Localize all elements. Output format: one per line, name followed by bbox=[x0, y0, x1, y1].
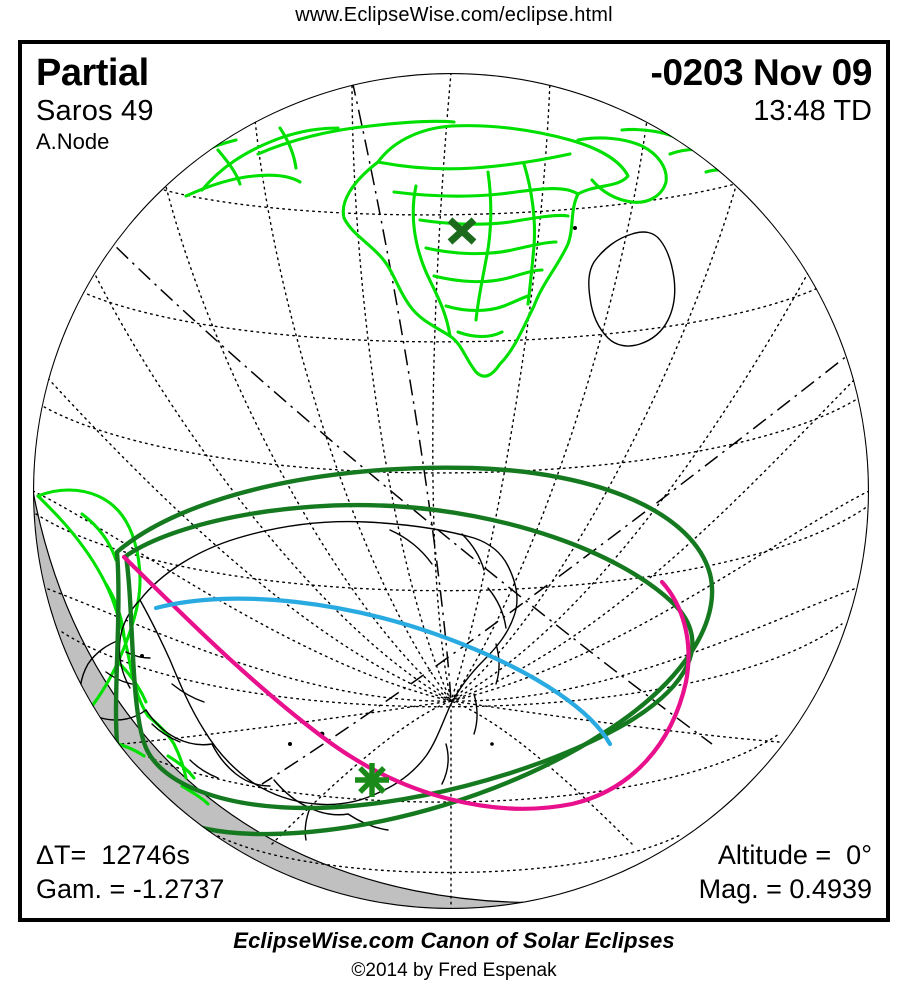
globe-diagram bbox=[22, 44, 886, 918]
saros-label: Saros 49 bbox=[36, 94, 154, 128]
footer-credit: ©2014 by Fred Espenak bbox=[0, 960, 908, 982]
page-footer: EclipseWise.com Canon of Solar Eclipses … bbox=[0, 928, 908, 982]
source-url: www.EclipseWise.com/eclipse.html bbox=[0, 4, 908, 27]
gamma-value: Gam. = -1.2737 bbox=[36, 872, 224, 906]
eclipse-time-label: 13:48 TD bbox=[651, 94, 872, 128]
delta-t-value: ΔT= 12746s bbox=[36, 838, 224, 872]
eclipse-date-label: -0203 Nov 09 bbox=[651, 52, 872, 94]
greatest-eclipse-asterisk-icon bbox=[355, 763, 389, 797]
altitude-value: Altitude = 0° bbox=[699, 838, 872, 872]
node-label: A.Node bbox=[36, 128, 154, 156]
magnitude-value: Mag. = 0.4939 bbox=[699, 872, 872, 906]
eclipse-parameters-left: ΔT= 12746s Gam. = -1.2737 bbox=[36, 838, 224, 906]
eclipse-type-label: Partial bbox=[36, 52, 154, 94]
eclipse-parameters-right: Altitude = 0° Mag. = 0.4939 bbox=[699, 838, 872, 906]
footer-title: EclipseWise.com Canon of Solar Eclipses bbox=[0, 928, 908, 954]
eclipse-date-block: -0203 Nov 09 13:48 TD bbox=[651, 52, 872, 128]
eclipse-map-page: www.EclipseWise.com/eclipse.html bbox=[0, 0, 908, 1004]
globe-disc bbox=[33, 73, 869, 918]
eclipse-map-frame: Partial Saros 49 A.Node -0203 Nov 09 13:… bbox=[18, 40, 890, 922]
eclipse-title-block: Partial Saros 49 A.Node bbox=[36, 52, 154, 156]
